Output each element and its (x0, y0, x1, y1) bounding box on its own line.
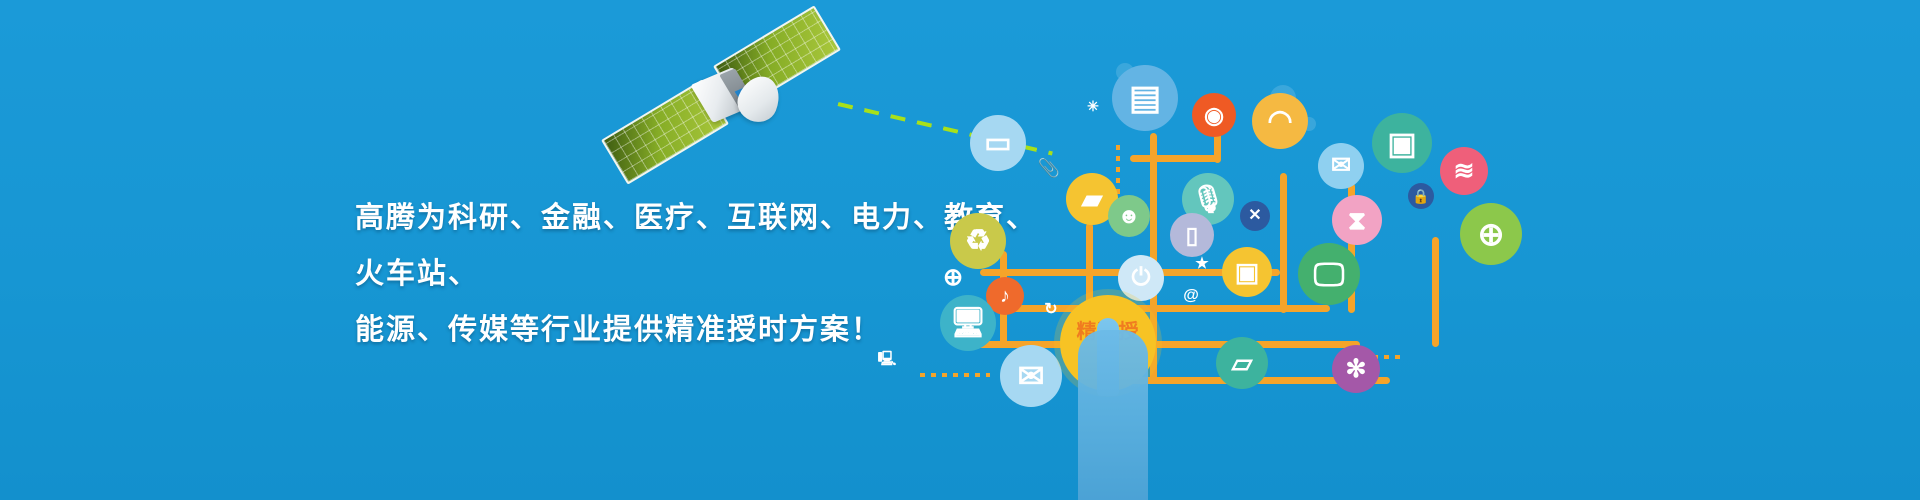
asterisk-icon: ✻ (1332, 345, 1380, 393)
close-x-icon-glyph: ✕ (1248, 208, 1261, 224)
hourglass-icon: ⧗ (1332, 195, 1382, 245)
branch-v6 (1432, 237, 1439, 347)
globe-grid-icon-glyph: ⊕ (943, 266, 963, 290)
branch-v1 (1214, 133, 1221, 163)
lock-icon-glyph: 🔒 (1412, 189, 1429, 203)
document-icon-glyph: ▤ (1129, 81, 1161, 115)
mail-large-icon-glyph: ✉ (1018, 360, 1045, 392)
dotted-branch-left (920, 373, 990, 377)
photo-camera-icon: ▣ (1222, 247, 1272, 297)
gear-icon-glyph: ✳ (1087, 99, 1099, 113)
envelope-icon-glyph: ✉ (1331, 154, 1351, 178)
satellite-illustration (600, 10, 850, 185)
power-icon-glyph: ⏻ (1132, 266, 1151, 290)
power-icon: ⏻ (1118, 255, 1164, 301)
mobile-phone-icon-glyph: ▯ (1186, 224, 1199, 247)
microphone-icon-glyph: 🎙 (1191, 186, 1225, 213)
tablet-signal-icon: ▱ (1216, 337, 1268, 389)
wifi-signal-icon: ≋ (1440, 147, 1488, 195)
folder-icon-glyph: ▰ (1082, 186, 1103, 213)
document-icon: ▤ (1112, 65, 1178, 131)
mail-large-icon: ✉ (1000, 345, 1062, 407)
user-icon-glyph: ☻ (1117, 205, 1140, 227)
photo-camera-icon-glyph: ▣ (1235, 259, 1260, 285)
at-sign-icon: @ (1176, 281, 1206, 311)
headphones-icon: ◠ (1252, 93, 1308, 149)
media-player-icon-glyph: ▣ (1387, 128, 1416, 159)
icon-tree: ▭📎✳▤◉◠✉▣≋▰☻🎙✕▯⧗🔒⊕♻⊕♪↻⏻@▣🖵🖥✉▱✻★🖳 (940, 55, 1370, 485)
asterisk-icon-glyph: ✻ (1346, 357, 1367, 382)
monitor-wifi-icon-glyph: 🖵 (1314, 258, 1345, 290)
gear-icon: ✳ (1080, 93, 1106, 119)
branch-h4 (1130, 155, 1220, 162)
laptop-wifi-icon-glyph: 🖥 (950, 309, 987, 338)
pointing-hand-icon (1078, 330, 1148, 500)
envelope-icon: ✉ (1318, 143, 1364, 189)
paperclip-icon: 📎 (1032, 151, 1066, 185)
laptop-wifi-icon: 🖥 (940, 295, 996, 351)
desktop-small-icon-glyph: 🖳 (878, 351, 897, 365)
monitor-wifi-icon: 🖵 (1298, 243, 1360, 305)
branch-v2 (1280, 173, 1287, 313)
lock-icon: 🔒 (1408, 183, 1434, 209)
tablet-wifi-icon-glyph: ▭ (984, 129, 1011, 158)
paperclip-icon-glyph: 📎 (1038, 159, 1060, 177)
media-player-icon: ▣ (1372, 113, 1432, 173)
tablet-signal-icon-glyph: ▱ (1232, 350, 1253, 377)
headphones-icon-glyph: ◠ (1267, 107, 1292, 136)
star-icon: ★ (1188, 249, 1216, 277)
refresh-icon-glyph: ↻ (1044, 302, 1057, 318)
user-icon: ☻ (1108, 195, 1150, 237)
hourglass-icon-glyph: ⧗ (1348, 207, 1366, 233)
tablet-wifi-icon: ▭ (970, 115, 1026, 171)
virus-gear-icon: ◉ (1192, 93, 1236, 137)
banner-root: 高腾为科研、金融、医疗、互联网、电力、教育、火车站、 能源、传媒等行业提供精准授… (0, 0, 1920, 500)
star-icon-glyph: ★ (1195, 256, 1208, 271)
music-note-icon-glyph: ♪ (1000, 286, 1010, 306)
recycle-icon-glyph: ♻ (965, 227, 991, 256)
virus-gear-icon-glyph: ◉ (1204, 104, 1224, 127)
at-sign-icon-glyph: @ (1183, 288, 1199, 304)
globe-icon: ⊕ (1460, 203, 1522, 265)
refresh-icon: ↻ (1036, 295, 1066, 325)
wifi-signal-icon-glyph: ≋ (1454, 159, 1475, 184)
globe-icon-glyph: ⊕ (1478, 218, 1505, 250)
close-x-icon: ✕ (1240, 201, 1270, 231)
desktop-small-icon: 🖳 (874, 345, 900, 371)
